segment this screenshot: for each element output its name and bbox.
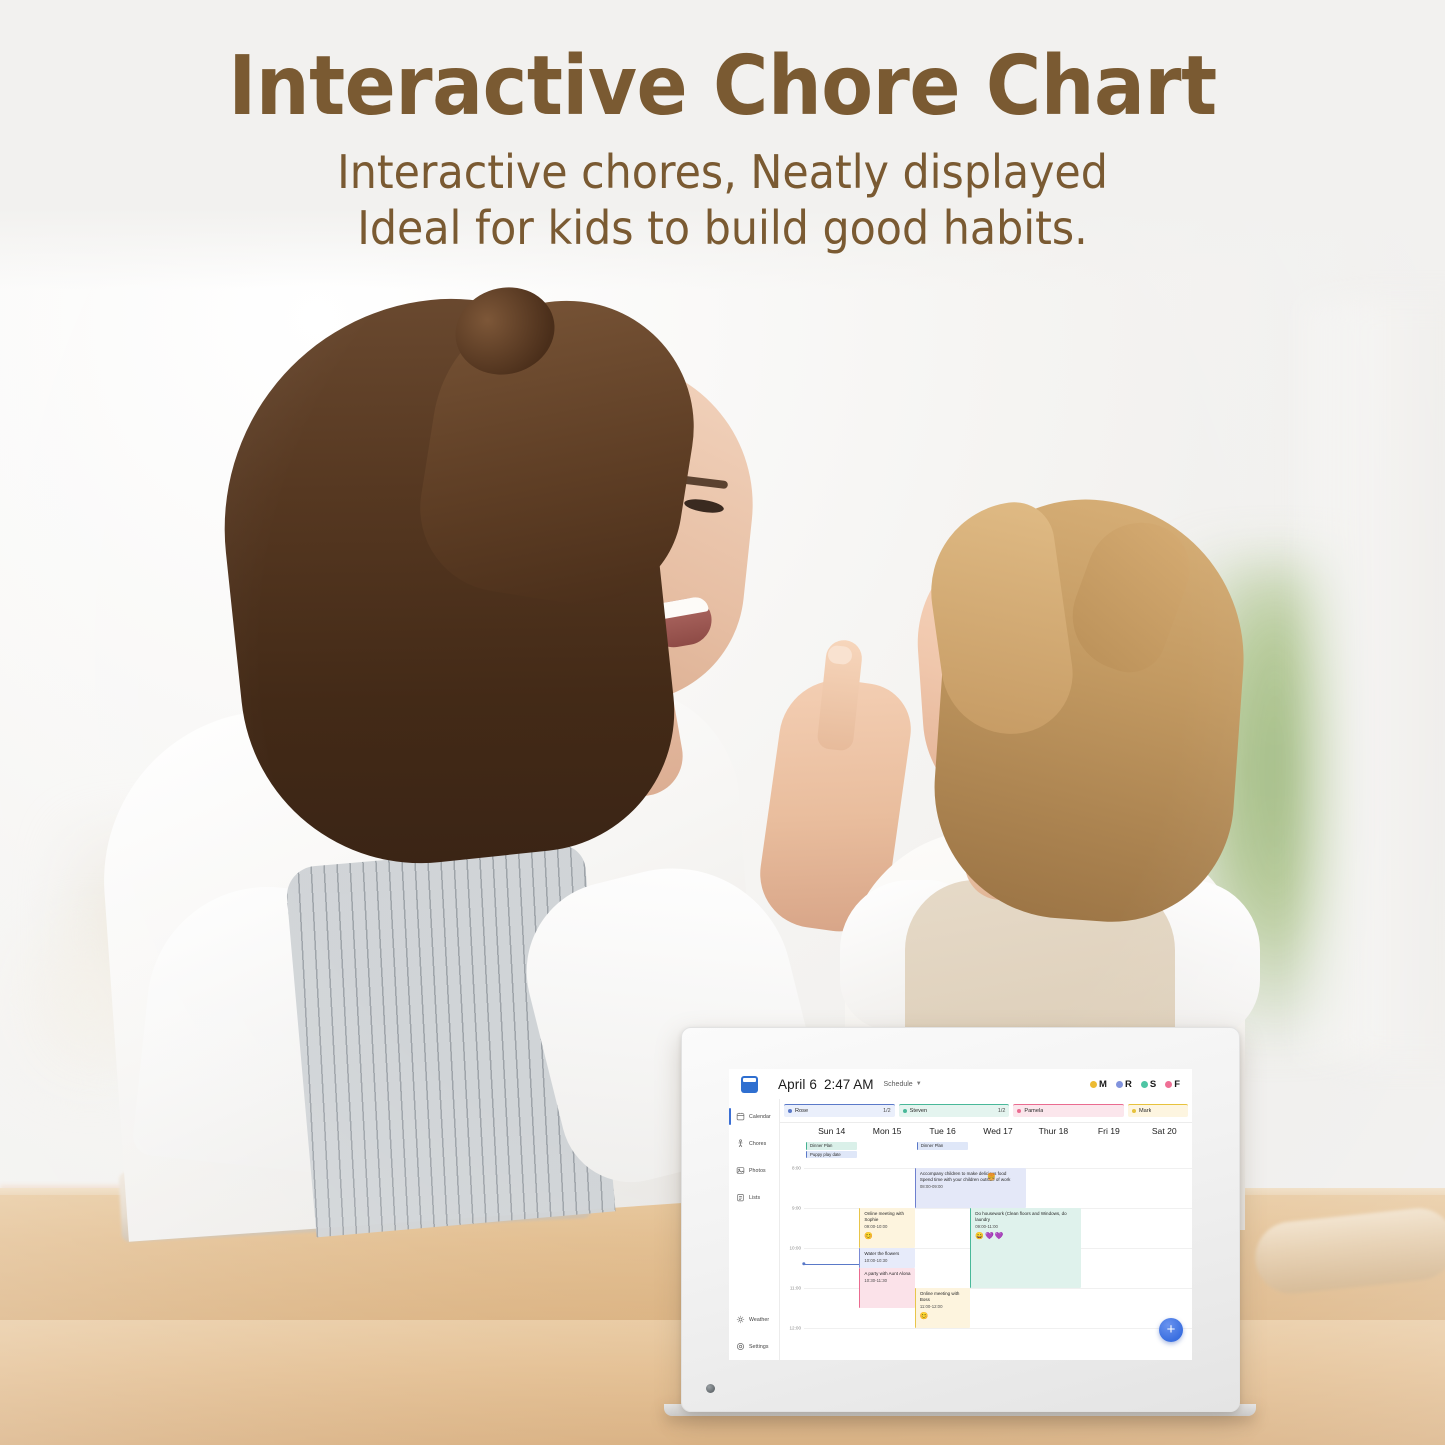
event-time: 10:30-11:30 (864, 1278, 911, 1284)
person-name: Pamela (1024, 1108, 1043, 1114)
view-selector-label: Schedule (884, 1081, 913, 1088)
avatar[interactable]: M (1090, 1079, 1107, 1090)
chores-icon (736, 1139, 745, 1148)
sidebar: Calendar Chores Photos (729, 1099, 779, 1360)
event-time: 10:00-10:30 (864, 1258, 911, 1264)
avatar-letter: M (1099, 1079, 1107, 1090)
all-day-cell-sat[interactable] (1137, 1142, 1192, 1162)
weather-icon (736, 1315, 745, 1324)
time-gutter: 8:00 9:00 10:00 11:00 12:00 (780, 1123, 804, 1360)
avatar-dot (1141, 1081, 1148, 1088)
calendar-event[interactable]: A party with Aunt Alona 10:30-11:30 (859, 1268, 914, 1308)
sidebar-item-settings[interactable]: Settings (729, 1333, 779, 1360)
photos-icon (736, 1166, 745, 1175)
time-label: 8:00 (792, 1166, 801, 1171)
sidebar-spacer (729, 1211, 779, 1306)
all-day-cell-thur[interactable] (1026, 1142, 1081, 1162)
person-name: Rose (795, 1108, 808, 1114)
hero-subtitle: Interactive chores, Neatly displayed Ide… (51, 130, 1395, 256)
plus-icon: + (1167, 1322, 1176, 1337)
calendar-check-icon: ✓ (741, 1076, 758, 1093)
event-emoji: 🍔 (987, 1174, 997, 1181)
sidebar-item-chores[interactable]: Chores (729, 1130, 779, 1157)
time-label: 10:00 (790, 1246, 802, 1251)
calendar-event[interactable]: Do housework (Clean floors and Windows, … (970, 1208, 1081, 1288)
sidebar-item-lists[interactable]: Lists (729, 1184, 779, 1211)
lists-icon (736, 1193, 745, 1202)
avatar-letter: F (1174, 1079, 1180, 1090)
person-chip-pamela[interactable]: Pamela (1013, 1104, 1124, 1117)
sidebar-item-label: Lists (749, 1195, 760, 1201)
person-chip-rose[interactable]: Rose 1/2 (784, 1104, 895, 1117)
event-subtitle: Spend time with your children outside of… (920, 1177, 1023, 1183)
all-day-cell-sun[interactable]: Dinner Plan Puppy play date (804, 1142, 859, 1162)
all-day-event[interactable]: Puppy play date (806, 1151, 857, 1159)
all-day-row: Dinner Plan Puppy play date Dinner Plan (804, 1142, 1192, 1162)
calendar-panel: Rose 1/2 Steven 1/2 Pamela (779, 1099, 1192, 1360)
day-header[interactable]: Mon 15 (859, 1123, 914, 1142)
time-label: 12:00 (790, 1326, 802, 1331)
person-chip-row: Rose 1/2 Steven 1/2 Pamela (780, 1099, 1192, 1122)
avatar[interactable]: F (1165, 1079, 1180, 1090)
sidebar-item-weather[interactable]: Weather (729, 1306, 779, 1333)
avatar[interactable]: S (1141, 1079, 1156, 1090)
hero-subtitle-line-1: Interactive chores, Neatly displayed (337, 145, 1108, 199)
sidebar-item-label: Chores (749, 1141, 766, 1147)
app-header: ✓ April 6 2:47 AM Schedule ▼ M R S (729, 1069, 1192, 1099)
person-dot (1017, 1109, 1021, 1113)
sidebar-item-label: Settings (749, 1344, 769, 1350)
current-time-line (804, 1264, 859, 1265)
tablet-screen: ✓ April 6 2:47 AM Schedule ▼ M R S (729, 1069, 1192, 1360)
view-selector[interactable]: Schedule ▼ (884, 1081, 922, 1088)
calendar-grid: 8:00 9:00 10:00 11:00 12:00 Sun 14 Mon 1… (780, 1122, 1192, 1360)
current-time-dot (802, 1262, 805, 1265)
event-title: A party with Aunt Alona (864, 1271, 911, 1277)
header-time: 2:47 AM (824, 1077, 874, 1092)
calendar-event[interactable]: Accompany children to make delicious foo… (915, 1168, 1026, 1208)
event-title: Online meeting with Boss (920, 1291, 967, 1303)
day-header[interactable]: Sat 20 (1137, 1123, 1192, 1142)
event-emoji: 😊 (864, 1233, 911, 1240)
avatar-group: M R S F (1090, 1079, 1184, 1090)
avatar-dot (1165, 1081, 1172, 1088)
calendar-event[interactable]: Water the flowers 10:00-10:30 (859, 1248, 914, 1268)
camera-sensor-icon (706, 1384, 715, 1393)
all-day-event[interactable]: Dinner Plan (917, 1142, 968, 1150)
hero-banner: Interactive Chore Chart Interactive chor… (0, 0, 1445, 290)
calendar-icon (736, 1112, 745, 1121)
page-title: Interactive Chore Chart (58, 0, 1387, 130)
sidebar-item-label: Photos (749, 1168, 766, 1174)
person-chip-mark[interactable]: Mark (1128, 1104, 1188, 1117)
avatar-dot (1090, 1081, 1097, 1088)
event-emoji: 😊 (920, 1313, 967, 1320)
calendar-event[interactable]: Online meeting with Sophie 09:00-10:00 😊 (859, 1208, 914, 1248)
event-time: 09:00-11:00 (975, 1224, 1078, 1230)
header-date: April 6 (778, 1077, 817, 1092)
person-name: Steven (910, 1108, 927, 1114)
sidebar-item-photos[interactable]: Photos (729, 1157, 779, 1184)
time-label: 9:00 (792, 1206, 801, 1211)
person-chip-steven[interactable]: Steven 1/2 (899, 1104, 1010, 1117)
all-day-cell-tue[interactable]: Dinner Plan (915, 1142, 970, 1162)
gear-icon (736, 1342, 745, 1351)
day-header-row: Sun 14 Mon 15 Tue 16 Wed 17 Thur 18 Fri … (804, 1123, 1192, 1142)
calendar-event[interactable]: Online meeting with Boss 11:00-12:00 😊 (915, 1288, 970, 1328)
person-name: Mark (1139, 1108, 1151, 1114)
person-dot (1132, 1109, 1136, 1113)
day-header[interactable]: Sun 14 (804, 1123, 859, 1142)
avatar-letter: R (1125, 1079, 1132, 1090)
all-day-cell-wed[interactable] (970, 1142, 1025, 1162)
person-dot (903, 1109, 907, 1113)
event-time: 09:00-10:00 (864, 1224, 911, 1230)
avatar[interactable]: R (1116, 1079, 1132, 1090)
sidebar-item-label: Calendar (749, 1114, 771, 1120)
all-day-cell-mon[interactable] (859, 1142, 914, 1162)
day-header[interactable]: Fri 19 (1081, 1123, 1136, 1142)
person-progress: 1/2 (883, 1108, 891, 1114)
chevron-down-icon: ▼ (916, 1081, 922, 1087)
sidebar-item-label: Weather (749, 1317, 769, 1323)
all-day-cell-fri[interactable] (1081, 1142, 1136, 1162)
day-header[interactable]: Tue 16 (915, 1123, 970, 1142)
hero-subtitle-line-2: Ideal for kids to build good habits. (357, 201, 1088, 255)
event-title: Water the flowers (864, 1251, 911, 1257)
all-day-event[interactable]: Dinner Plan (806, 1142, 857, 1150)
event-emoji: 😄💜💜 (975, 1233, 1078, 1240)
sidebar-item-calendar[interactable]: Calendar (729, 1103, 779, 1130)
time-label: 11:00 (790, 1286, 801, 1291)
day-columns: Sun 14 Mon 15 Tue 16 Wed 17 Thur 18 Fri … (804, 1123, 1192, 1360)
add-event-button[interactable]: + (1159, 1318, 1183, 1342)
event-time: 08:00-09:00 (920, 1184, 1023, 1190)
event-time: 11:00-12:00 (920, 1304, 967, 1310)
avatar-letter: S (1150, 1079, 1156, 1090)
day-header[interactable]: Thur 18 (1026, 1123, 1081, 1142)
event-title: Do housework (Clean floors and Windows, … (975, 1211, 1078, 1223)
person-dot (788, 1109, 792, 1113)
person-progress: 1/2 (998, 1108, 1006, 1114)
avatar-dot (1116, 1081, 1123, 1088)
event-title: Online meeting with Sophie (864, 1211, 911, 1223)
day-header[interactable]: Wed 17 (970, 1123, 1025, 1142)
promotional-image: Interactive Chore Chart Interactive chor… (0, 0, 1445, 1445)
